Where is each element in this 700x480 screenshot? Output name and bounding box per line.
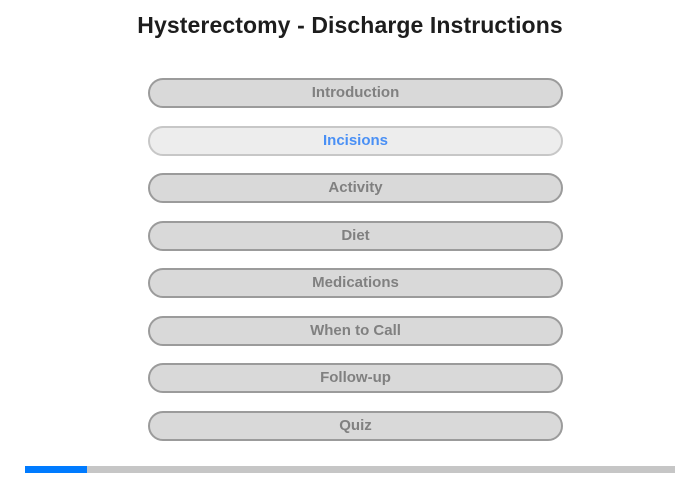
section-menu: IntroductionIncisionsActivityDietMedicat… [148, 78, 563, 441]
menu-item-medications[interactable]: Medications [148, 268, 563, 298]
menu-item-diet[interactable]: Diet [148, 221, 563, 251]
page-title: Hysterectomy - Discharge Instructions [0, 10, 700, 40]
menu-item-label: Introduction [150, 80, 561, 106]
menu-item-label: Incisions [150, 128, 561, 154]
menu-item-label: Follow-up [150, 365, 561, 391]
menu-item-activity[interactable]: Activity [148, 173, 563, 203]
discharge-instructions-screen: Hysterectomy - Discharge Instructions In… [0, 0, 700, 480]
menu-item-when-to-call[interactable]: When to Call [148, 316, 563, 346]
menu-item-follow-up[interactable]: Follow-up [148, 363, 563, 393]
menu-item-introduction[interactable]: Introduction [148, 78, 563, 108]
menu-item-label: Activity [150, 175, 561, 201]
menu-item-label: Medications [150, 270, 561, 296]
progress-bar-track [25, 466, 675, 473]
progress-bar-fill [25, 466, 87, 473]
menu-item-label: Diet [150, 223, 561, 249]
menu-item-label: When to Call [150, 318, 561, 344]
menu-item-incisions[interactable]: Incisions [148, 126, 563, 156]
menu-item-quiz[interactable]: Quiz [148, 411, 563, 441]
menu-item-label: Quiz [150, 413, 561, 439]
